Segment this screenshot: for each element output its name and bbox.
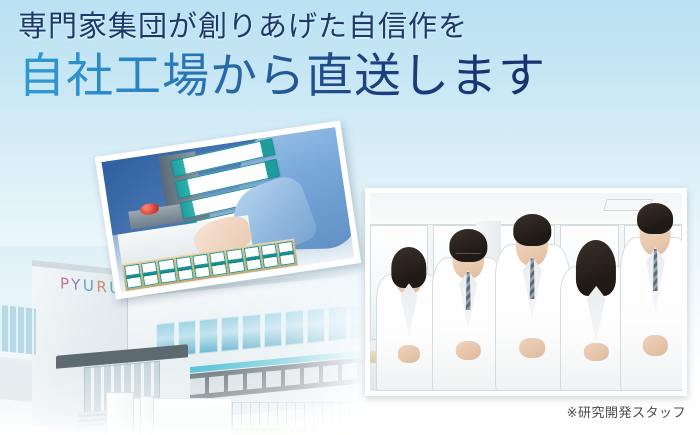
- factory-gate-pillar-left: [106, 392, 134, 435]
- staff-hair: [514, 214, 551, 245]
- staff-person-3: [495, 207, 570, 391]
- research-staff-photo: [365, 188, 687, 396]
- sign-letter-3: U: [83, 276, 97, 295]
- staff-glasses-icon: [456, 253, 480, 258]
- sign-letter-2: Y: [71, 275, 83, 294]
- staff-hair: [391, 247, 426, 288]
- staff-person-2: [432, 219, 504, 391]
- sign-letter-4: R: [96, 277, 109, 296]
- headline-block: 専門家集団が創りあげた自信作を 自社工場から直送します: [18, 8, 546, 106]
- headline-line-2: 自社工場から直送します: [18, 48, 546, 107]
- factory-glass-upper: [0, 303, 36, 354]
- staff-hands: [643, 335, 667, 356]
- staff-hands: [456, 341, 480, 360]
- staff-hands: [584, 343, 608, 361]
- staff-photo-content: [370, 193, 682, 391]
- staff-person-5: [620, 199, 682, 391]
- promo-banner: PYURU 専門家集団が創りあげた自信作を 自社工場から直送します: [0, 0, 700, 435]
- staff-hands: [520, 338, 545, 358]
- factory-glass-lower: [0, 356, 32, 403]
- lab-photo-content: [102, 127, 355, 292]
- sign-letter-1: P: [60, 274, 72, 293]
- factory-gate-pillar-right: [140, 396, 154, 435]
- staff-hair: [638, 203, 674, 234]
- staff-hands: [398, 345, 420, 362]
- staff-photo-caption: ※研究開発スタッフ: [567, 402, 686, 421]
- headline-line-1: 専門家集団が創りあげた自信作を: [18, 8, 546, 46]
- factory-lawn: [230, 428, 362, 435]
